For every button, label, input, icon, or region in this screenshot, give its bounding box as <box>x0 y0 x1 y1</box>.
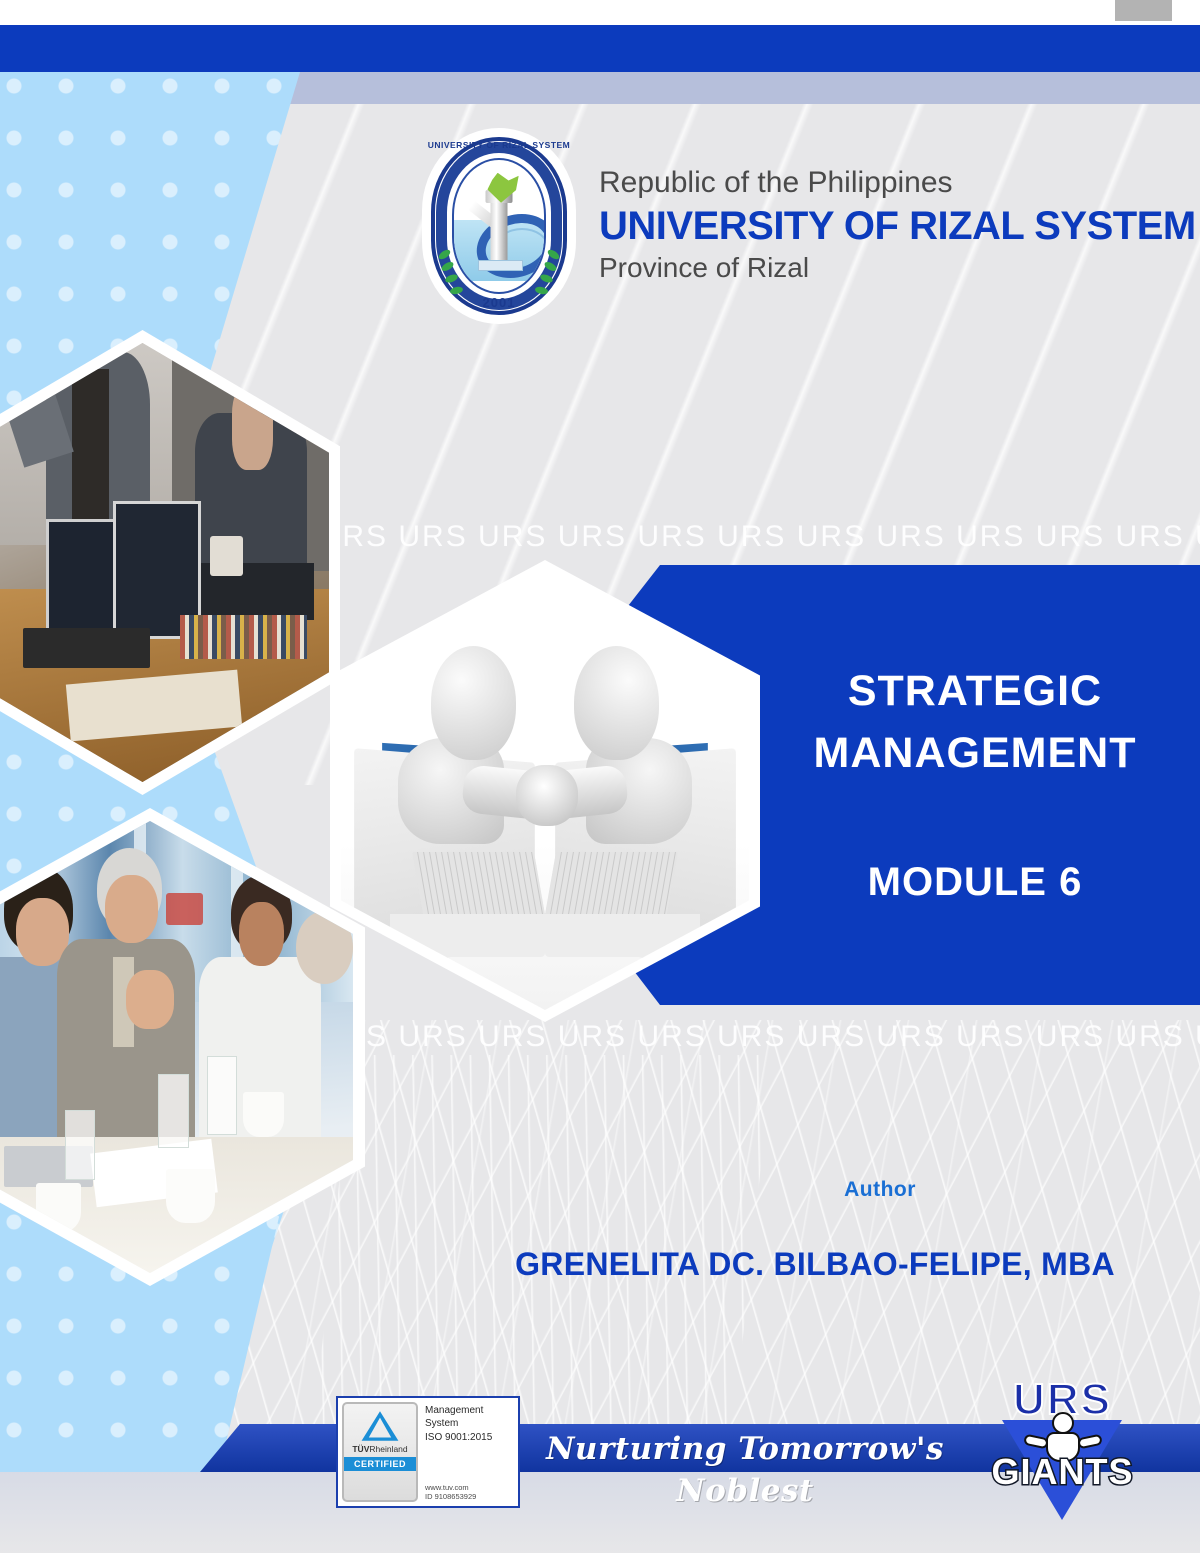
tuv-details: Management System ISO 9001:2015 www.tuv.… <box>418 1398 518 1506</box>
seal-emblem <box>452 158 546 294</box>
tuv-brand-bold: TÜV <box>352 1444 369 1454</box>
institution-header: UNIVERSITY OF RIZAL SYSTEM <box>425 128 1125 323</box>
module-number: MODULE 6 <box>760 860 1190 905</box>
university-name: UNIVERSITY OF RIZAL SYSTEM <box>599 202 1196 251</box>
tuv-id: ID 9108653929 <box>425 1492 518 1502</box>
tuv-system-label: System <box>425 1418 518 1431</box>
tuv-rheinland-certification-badge: TÜVRheinland CERTIFIED Management System… <box>336 1396 520 1508</box>
seal-scroll <box>478 260 523 271</box>
giants-text: GIANTS <box>980 1454 1145 1490</box>
republic-label: Republic of the Philippines <box>599 164 1196 202</box>
top-right-chip <box>1115 0 1172 21</box>
institution-text-lines: Republic of the Philippines UNIVERSITY O… <box>599 164 1196 287</box>
tuv-logo: TÜVRheinland CERTIFIED <box>342 1402 418 1502</box>
title-line-1: STRATEGIC <box>760 660 1190 722</box>
seal-ring-text: UNIVERSITY OF RIZAL SYSTEM <box>425 140 573 150</box>
cover-page: URS URS URS URS URS URS URS URS URS URS … <box>0 0 1200 1553</box>
author-name: GRENELITA DC. BILBAO-FELIPE, MBA <box>470 1246 1160 1283</box>
tuv-brand-rest: Rheinland <box>369 1444 407 1454</box>
tuv-url: www.tuv.com <box>425 1483 518 1493</box>
seal-year: 2001 <box>425 295 573 310</box>
page-title: STRATEGIC MANAGEMENT <box>760 660 1190 785</box>
header-blue-bar <box>0 25 1200 72</box>
urs-giants-logo: URS GIANTS <box>980 1378 1145 1528</box>
province-label: Province of Rizal <box>599 250 1196 286</box>
tuv-management-label: Management <box>425 1405 518 1418</box>
tuv-ref-block: www.tuv.com ID 9108653929 <box>425 1483 518 1503</box>
title-line-2: MANAGEMENT <box>760 722 1190 784</box>
tuv-certified-label: CERTIFIED <box>344 1457 416 1471</box>
tuv-standard-block: Management System ISO 9001:2015 <box>425 1405 518 1443</box>
tuv-triangle-icon <box>360 1410 400 1442</box>
tuv-iso-standard: ISO 9001:2015 <box>425 1432 518 1443</box>
author-label: Author <box>600 1178 1160 1202</box>
tagline: Nurturing Tomorrow's Noblest <box>510 1428 980 1470</box>
university-seal-icon: UNIVERSITY OF RIZAL SYSTEM <box>425 131 573 321</box>
tuv-brand: TÜVRheinland <box>352 1444 407 1454</box>
